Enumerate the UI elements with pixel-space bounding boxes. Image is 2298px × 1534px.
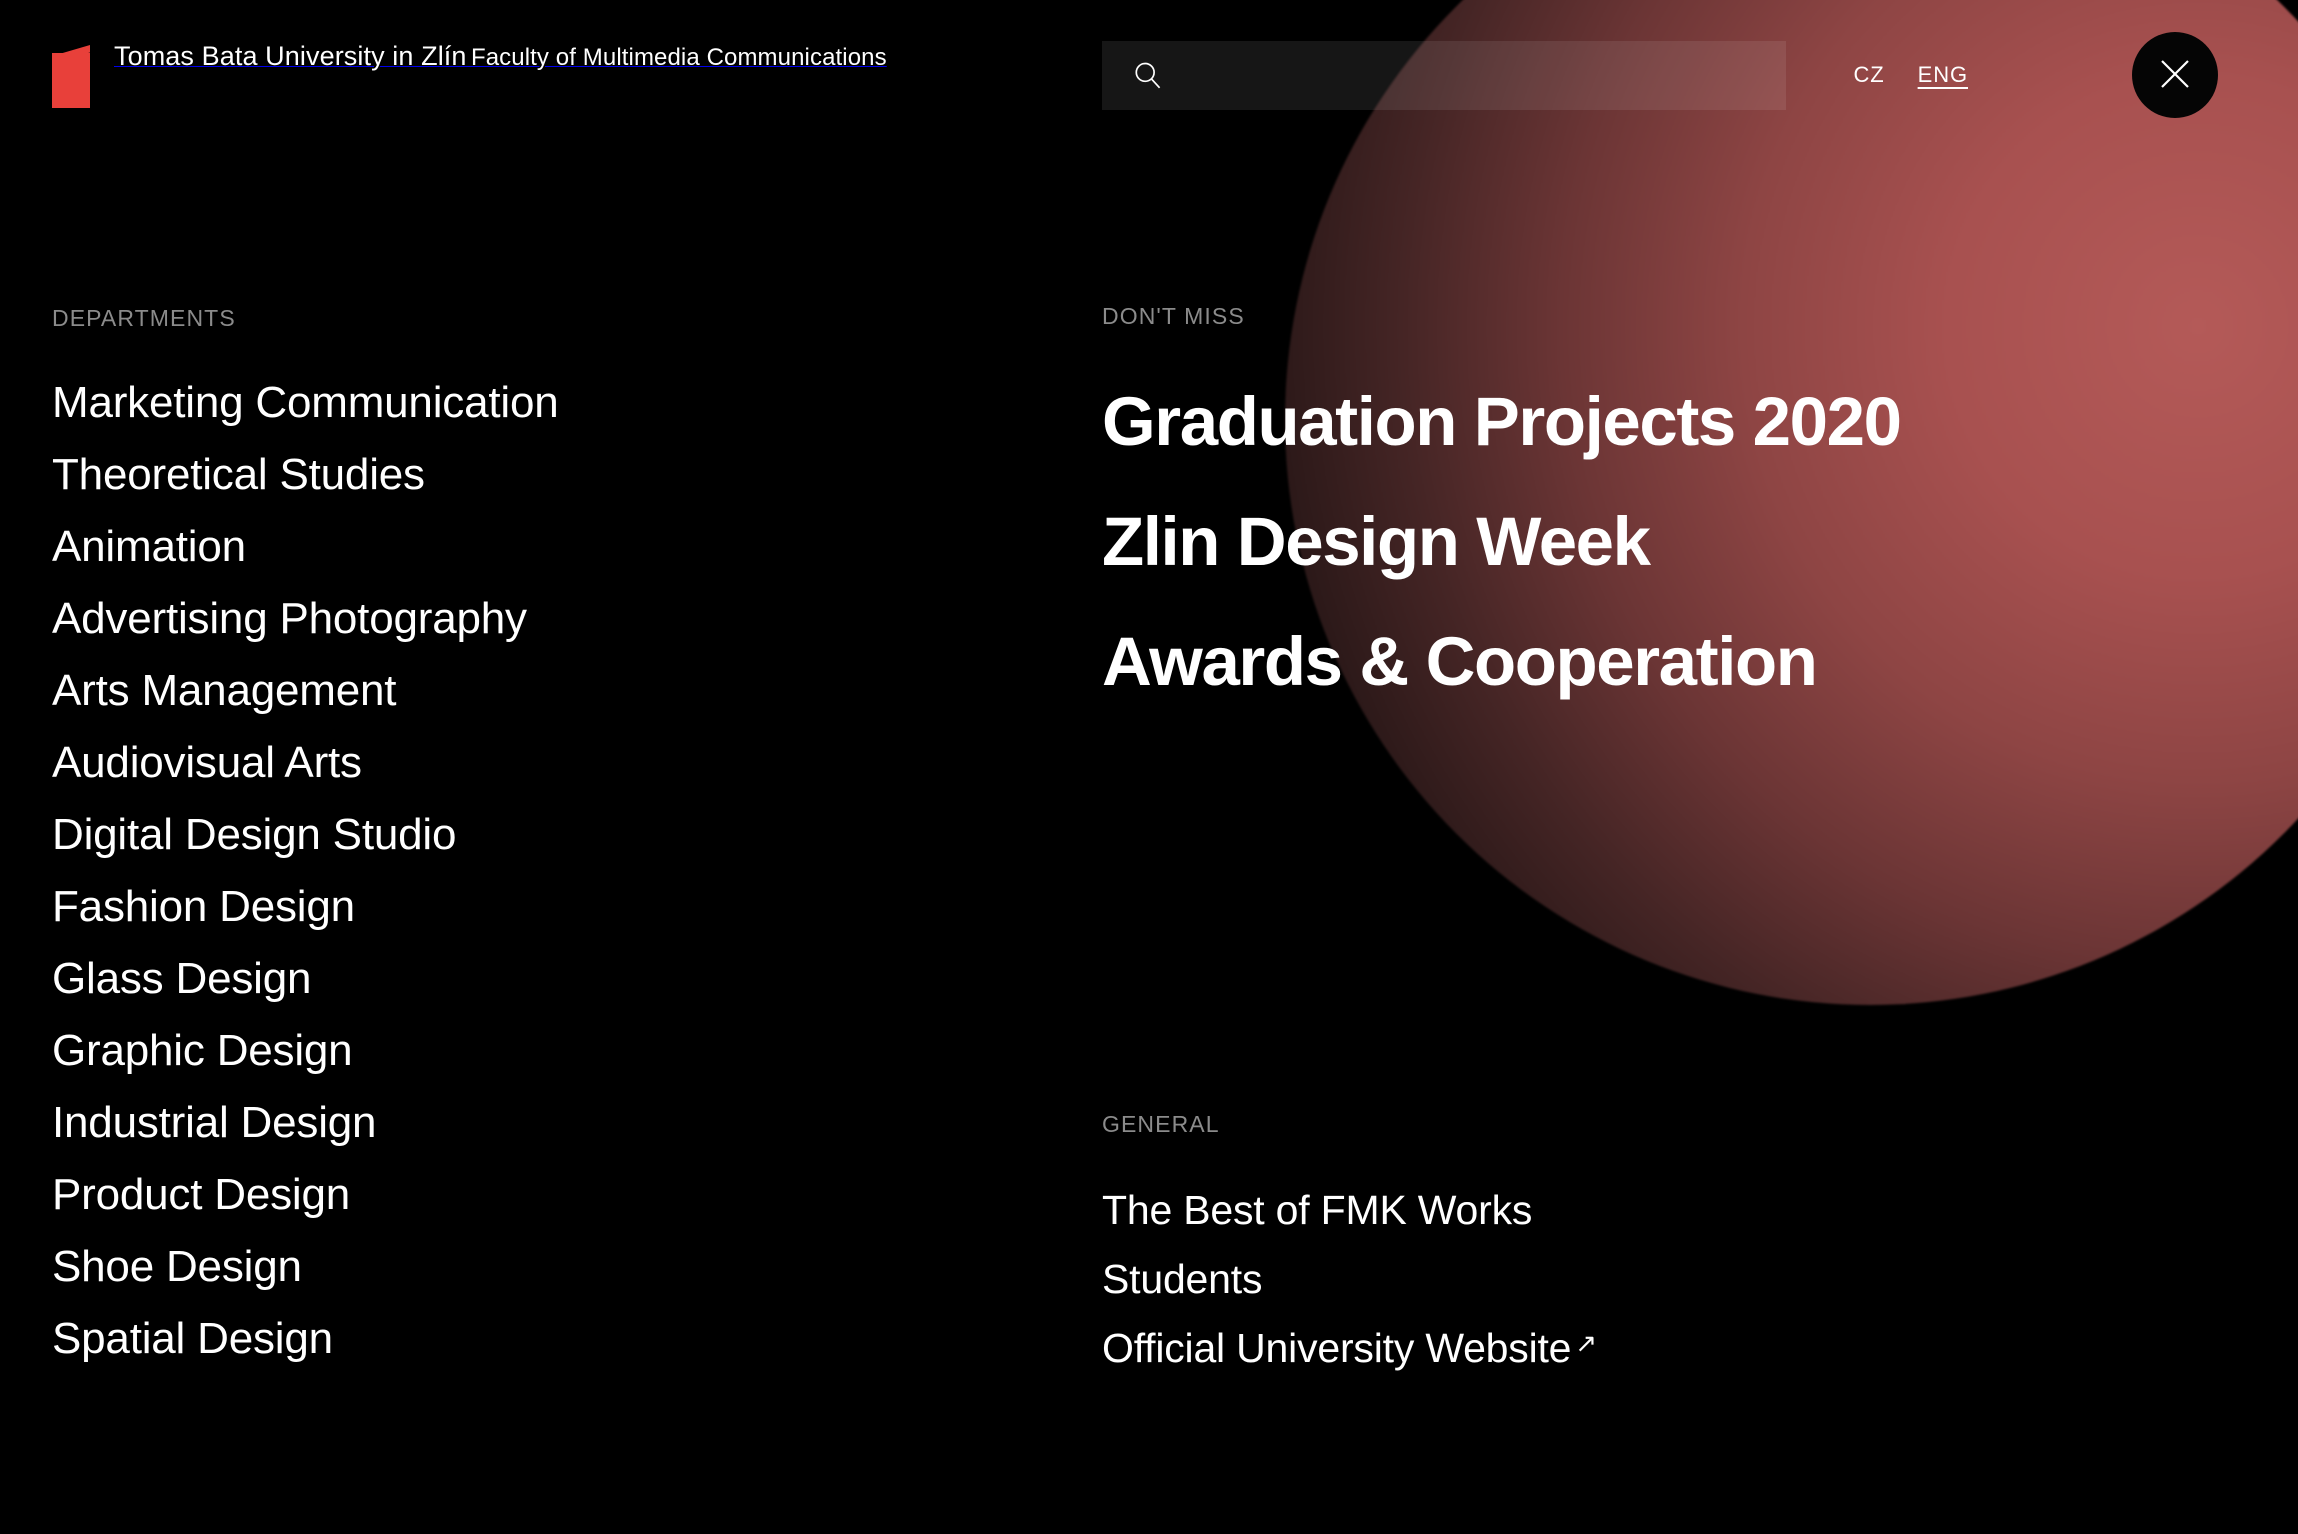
header: Tomas Bata University in Zlín Faculty of… — [0, 0, 2298, 155]
sidebar-item-digital-design-studio[interactable]: Digital Design Studio — [52, 799, 559, 871]
sidebar-item-marketing-communication[interactable]: Marketing Communication — [52, 367, 559, 439]
sidebar-item-graphic-design[interactable]: Graphic Design — [52, 1015, 559, 1087]
general-section: GENERAL The Best of FMK Works Students O… — [1102, 1111, 1597, 1383]
sidebar-item-industrial-design[interactable]: Industrial Design — [52, 1087, 559, 1159]
brand-logo-link[interactable]: Tomas Bata University in Zlín Faculty of… — [52, 38, 887, 108]
highlight-zlin-design-week[interactable]: Zlin Design Week — [1102, 482, 1901, 602]
language-switcher[interactable]: CZ ENG — [1853, 62, 1968, 91]
sidebar-item-arts-management[interactable]: Arts Management — [52, 655, 559, 727]
general-item-label: Students — [1102, 1245, 1262, 1314]
lang-option-cz[interactable]: CZ — [1853, 62, 1884, 91]
university-name: Tomas Bata University in Zlín — [114, 41, 467, 71]
sidebar-item-product-design[interactable]: Product Design — [52, 1159, 559, 1231]
sidebar-item-spatial-design[interactable]: Spatial Design — [52, 1303, 559, 1375]
search-bar[interactable] — [1102, 41, 1786, 110]
close-icon — [2158, 57, 2192, 94]
lang-option-eng[interactable]: ENG — [1918, 62, 1968, 91]
general-item-label: Official University Website — [1102, 1314, 1571, 1383]
external-link-arrow-icon: ↗ — [1575, 1330, 1597, 1356]
dont-miss-section: DON'T MISS Graduation Projects 2020 Zlin… — [1102, 303, 1901, 722]
navigation-overlay: DEPARTMENTS Marketing Communication Theo… — [0, 0, 2298, 1534]
sidebar-item-fashion-design[interactable]: Fashion Design — [52, 871, 559, 943]
sidebar-item-animation[interactable]: Animation — [52, 511, 559, 583]
sidebar-item-advertising-photography[interactable]: Advertising Photography — [52, 583, 559, 655]
general-item-official-university-website[interactable]: Official University Website ↗ — [1102, 1314, 1597, 1383]
departments-section: DEPARTMENTS Marketing Communication Theo… — [52, 305, 559, 1375]
sidebar-item-audiovisual-arts[interactable]: Audiovisual Arts — [52, 727, 559, 799]
sidebar-item-glass-design[interactable]: Glass Design — [52, 943, 559, 1015]
highlight-graduation-projects[interactable]: Graduation Projects 2020 — [1102, 362, 1901, 482]
dont-miss-heading: DON'T MISS — [1102, 303, 1901, 330]
brand-text: Tomas Bata University in Zlín Faculty of… — [114, 38, 887, 74]
search-input[interactable] — [1165, 41, 1786, 110]
general-item-students[interactable]: Students — [1102, 1245, 1597, 1314]
general-item-label: The Best of FMK Works — [1102, 1176, 1532, 1245]
highlight-awards-cooperation[interactable]: Awards & Cooperation — [1102, 602, 1901, 722]
close-button[interactable] — [2132, 32, 2218, 118]
dont-miss-list: Graduation Projects 2020 Zlin Design Wee… — [1102, 362, 1901, 722]
departments-list: Marketing Communication Theoretical Stud… — [52, 367, 559, 1375]
general-list: The Best of FMK Works Students Official … — [1102, 1176, 1597, 1383]
sidebar-item-shoe-design[interactable]: Shoe Design — [52, 1231, 559, 1303]
faculty-name: Faculty of Multimedia Communications — [471, 44, 887, 71]
book-mark-icon — [52, 45, 90, 108]
general-item-best-of-fmk-works[interactable]: The Best of FMK Works — [1102, 1176, 1597, 1245]
departments-heading: DEPARTMENTS — [52, 305, 559, 332]
general-heading: GENERAL — [1102, 1111, 1597, 1138]
sidebar-item-theoretical-studies[interactable]: Theoretical Studies — [52, 439, 559, 511]
search-icon — [1131, 59, 1165, 93]
